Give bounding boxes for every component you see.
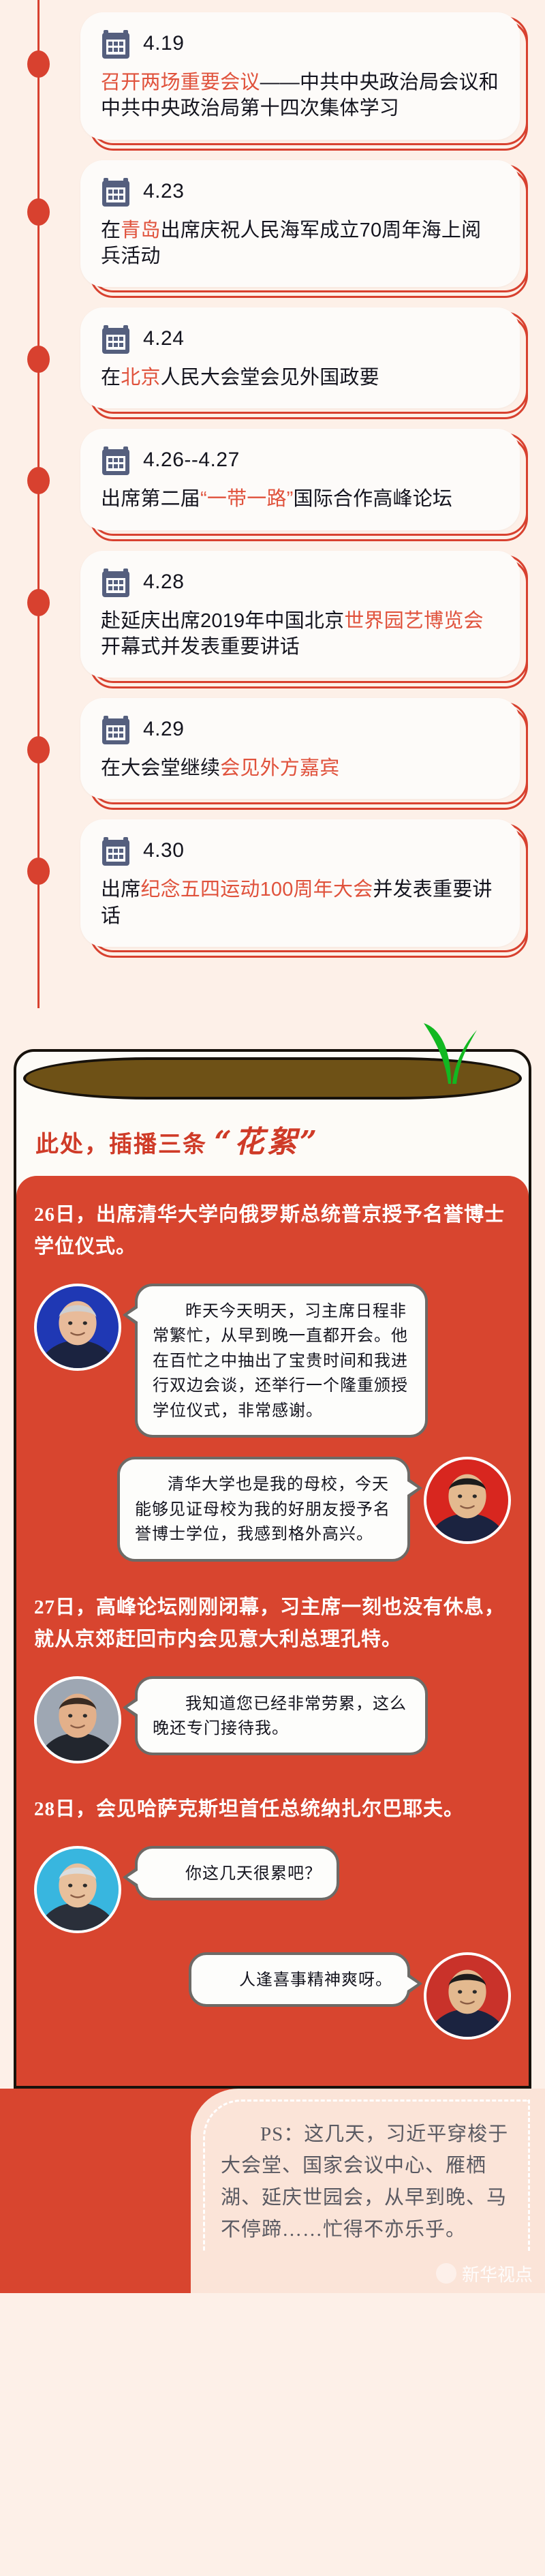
speech-bubble-text: 昨天今天明天，习主席日程非常繁忙，从早到晚一直都开会。他在百忙之中抽出了宝贵时间… — [153, 1299, 410, 1423]
dialogue-row: 昨天今天明天，习主席日程非常繁忙，从早到晚一直都开会。他在百忙之中抽出了宝贵时间… — [34, 1284, 511, 1438]
timeline-card-stack: 4.28赴延庆出席2019年中国北京世界园艺博览会开幕式并发表重要讲话 — [80, 551, 520, 678]
timeline-item: 4.23在青岛出席庆祝人民海军成立70周年海上阅兵活动 — [0, 160, 545, 288]
timeline-card-text: 在北京人民大会堂会见外国政要 — [101, 365, 499, 391]
dialogue-row: 人逢喜事精神爽呀。 — [34, 1952, 511, 2040]
timeline-card-date: 4.29 — [143, 718, 184, 741]
timeline-dot — [27, 198, 50, 226]
watermark-label: 新华视点 — [462, 2261, 533, 2286]
timeline-card-text: 在青岛出席庆祝人民海军成立70周年海上阅兵活动 — [101, 217, 499, 270]
timeline-card-date: 4.26--4.27 — [143, 449, 240, 472]
timeline-card-text: 出席纪念五四运动100周年大会并发表重要讲话 — [101, 877, 499, 929]
timeline-text-plain: 国际合作高峰论坛 — [294, 488, 453, 510]
timeline-card[interactable]: 4.23在青岛出席庆祝人民海军成立70周年海上阅兵活动 — [80, 160, 520, 288]
timeline-card-text: 赴延庆出席2019年中国北京世界园艺博览会开幕式并发表重要讲话 — [101, 608, 499, 661]
feature-blocks: 26日，出席清华大学向俄罗斯总统普京授予名誉博士学位仪式。昨天今天明天，习主席日… — [34, 1199, 511, 2040]
timeline-text-highlight: 北京 — [121, 367, 160, 389]
feature-title-quoted: “花絮” — [215, 1125, 320, 1160]
dialogue-row: 清华大学也是我的母校，今天能够见证母校为我的好朋友授予名誉博士学位，我感到格外高… — [34, 1457, 511, 1561]
dialogue-row: 我知道您已经非常劳累，这么晚还专门接待我。 — [34, 1676, 511, 1763]
speech-bubble-text: 清华大学也是我的母校，今天能够见证母校为我的好朋友授予名誉博士学位，我感到格外高… — [135, 1472, 392, 1546]
timeline-item: 4.26--4.27出席第二届“一带一路”国际合作高峰论坛 — [0, 429, 545, 530]
timeline-card-stack: 4.29在大会堂继续会见外方嘉宾 — [80, 698, 520, 799]
timeline-card-stack: 4.19召开两场重要会议——中共中央政治局会议和中共中央政治局第十四次集体学习 — [80, 12, 520, 140]
ps-text: PS：这几天，习近平穿梭于大会堂、国家会议中心、雁栖湖、延庆世园会，从早到晚、马… — [221, 2119, 520, 2247]
sprout-icon — [421, 1019, 480, 1088]
timeline-text-plain: 人民大会堂会见外国政要 — [161, 367, 379, 389]
timeline-card-header: 4.19 — [101, 27, 499, 60]
calendar-icon — [101, 444, 131, 476]
feature-title: 此处，插播三条 “花絮” — [16, 1100, 529, 1176]
timeline-card-stack: 4.26--4.27出席第二届“一带一路”国际合作高峰论坛 — [80, 429, 520, 530]
ps-footer-section: PS：这几天，习近平穿梭于大会堂、国家会议中心、雁栖湖、延庆世园会，从早到晚、马… — [0, 2089, 545, 2293]
timeline-text-highlight: 会见外方嘉宾 — [220, 757, 339, 779]
calendar-icon — [101, 834, 131, 867]
speech-bubble-text: 你这几天很累吧？ — [153, 1861, 322, 1885]
timeline-text-highlight: 召开两场重要会议 — [101, 72, 260, 93]
calendar-icon — [101, 175, 131, 208]
timeline-card-header: 4.28 — [101, 566, 499, 598]
speech-bubble-text: 我知道您已经非常劳累，这么晚还专门接待我。 — [153, 1691, 410, 1741]
timeline-text-plain: 开幕式并发表重要讲话 — [101, 636, 300, 658]
speech-bubble: 昨天今天明天，习主席日程非常繁忙，从早到晚一直都开会。他在百忙之中抽出了宝贵时间… — [135, 1284, 428, 1438]
feature-lede: 27日，高峰论坛刚刚闭幕，习主席一刻也没有休息，就从京郊赶回市内会见意大利总理孔… — [34, 1592, 511, 1656]
timeline-section: 4.19召开两场重要会议——中共中央政治局会议和中共中央政治局第十四次集体学习4… — [0, 0, 545, 1049]
timeline-dot — [27, 589, 50, 616]
timeline-card-header: 4.24 — [101, 322, 499, 355]
timeline-text-highlight: 世界园艺博览会 — [344, 610, 483, 632]
timeline-card-date: 4.28 — [143, 571, 184, 594]
timeline-list: 4.19召开两场重要会议——中共中央政治局会议和中共中央政治局第十四次集体学习4… — [0, 12, 545, 947]
timeline-card-date: 4.19 — [143, 32, 184, 55]
timeline-card-date: 4.23 — [143, 180, 184, 203]
speech-bubble: 清华大学也是我的母校，今天能够见证母校为我的好朋友授予名誉博士学位，我感到格外高… — [117, 1457, 410, 1561]
speech-bubble: 我知道您已经非常劳累，这么晚还专门接待我。 — [135, 1676, 428, 1756]
timeline-card-header: 4.29 — [101, 713, 499, 746]
timeline-text-highlight: 青岛 — [121, 219, 160, 241]
timeline-card[interactable]: 4.28赴延庆出席2019年中国北京世界园艺博览会开幕式并发表重要讲话 — [80, 551, 520, 678]
dialogue-row: 你这几天很累吧？ — [34, 1846, 511, 1933]
avatar-putin — [34, 1284, 121, 1371]
speech-bubble-text: 人逢喜事精神爽呀。 — [206, 1967, 392, 1992]
timeline-dot — [27, 858, 50, 885]
timeline-text-plain: 在 — [101, 367, 121, 389]
calendar-icon — [101, 566, 131, 598]
timeline-card[interactable]: 4.26--4.27出席第二届“一带一路”国际合作高峰论坛 — [80, 429, 520, 530]
timeline-card-date: 4.24 — [143, 327, 184, 350]
timeline-text-plain: 出席第二届 — [101, 488, 200, 510]
timeline-card[interactable]: 4.30出席纪念五四运动100周年大会并发表重要讲话 — [80, 819, 520, 947]
timeline-text-plain: 在大会堂继续 — [101, 757, 220, 779]
timeline-card-stack: 4.23在青岛出席庆祝人民海军成立70周年海上阅兵活动 — [80, 160, 520, 288]
infographic-page: 4.19召开两场重要会议——中共中央政治局会议和中共中央政治局第十四次集体学习4… — [0, 0, 545, 2576]
timeline-dot — [27, 346, 50, 373]
timeline-text-plain: 出席 — [101, 879, 140, 900]
calendar-icon — [101, 322, 131, 355]
timeline-item: 4.19召开两场重要会议——中共中央政治局会议和中共中央政治局第十四次集体学习 — [0, 12, 545, 140]
timeline-dot — [27, 736, 50, 763]
timeline-dot — [27, 50, 50, 78]
speech-bubble: 你这几天很累吧？ — [135, 1846, 339, 1900]
feature-red-panel: 26日，出席清华大学向俄罗斯总统普京授予名誉博士学位仪式。昨天今天明天，习主席日… — [16, 1176, 529, 2086]
timeline-card-header: 4.23 — [101, 175, 499, 208]
timeline-card[interactable]: 4.24在北京人民大会堂会见外国政要 — [80, 307, 520, 408]
avatar-xi-cn-flag — [424, 1457, 511, 1544]
avatar-xi-flags — [424, 1952, 511, 2040]
timeline-text-plain: 赴延庆出席2019年中国北京 — [101, 610, 344, 632]
feature-section: 此处，插播三条 “花絮” 26日，出席清华大学向俄罗斯总统普京授予名誉博士学位仪… — [14, 1049, 531, 2089]
timeline-card[interactable]: 4.29在大会堂继续会见外方嘉宾 — [80, 698, 520, 799]
feature-title-prefix: 此处，插播三条 — [35, 1132, 207, 1157]
calendar-icon — [101, 27, 131, 60]
timeline-text-highlight: 纪念五四运动100周年大会 — [140, 879, 373, 900]
timeline-card-text: 出席第二届“一带一路”国际合作高峰论坛 — [101, 486, 499, 512]
timeline-card-stack: 4.24在北京人民大会堂会见外国政要 — [80, 307, 520, 408]
avatar-conte — [34, 1676, 121, 1763]
timeline-card-text: 在大会堂继续会见外方嘉宾 — [101, 755, 499, 781]
timeline-text-highlight: “一带一路” — [200, 488, 294, 510]
watermark: 新华视点 — [436, 2261, 533, 2286]
timeline-item: 4.24在北京人民大会堂会见外国政要 — [0, 307, 545, 408]
timeline-card-header: 4.30 — [101, 834, 499, 867]
calendar-icon — [101, 713, 131, 746]
feature-lede: 28日，会见哈萨克斯坦首任总统纳扎尔巴耶夫。 — [34, 1793, 511, 1825]
weibo-icon — [436, 2263, 456, 2284]
timeline-item: 4.29在大会堂继续会见外方嘉宾 — [0, 698, 545, 799]
timeline-dot — [27, 467, 50, 494]
timeline-card-stack: 4.30出席纪念五四运动100周年大会并发表重要讲话 — [80, 819, 520, 947]
avatar-nazarbayev — [34, 1846, 121, 1933]
timeline-text-plain: 在 — [101, 219, 121, 241]
feature-lede: 26日，出席清华大学向俄罗斯总统普京授予名誉博士学位仪式。 — [34, 1199, 511, 1263]
timeline-item: 4.30出席纪念五四运动100周年大会并发表重要讲话 — [0, 819, 545, 947]
speech-bubble: 人逢喜事精神爽呀。 — [189, 1952, 410, 2007]
timeline-card-header: 4.26--4.27 — [101, 444, 499, 476]
timeline-item: 4.28赴延庆出席2019年中国北京世界园艺博览会开幕式并发表重要讲话 — [0, 551, 545, 678]
timeline-card-text: 召开两场重要会议——中共中央政治局会议和中共中央政治局第十四次集体学习 — [101, 70, 499, 122]
timeline-card[interactable]: 4.19召开两场重要会议——中共中央政治局会议和中共中央政治局第十四次集体学习 — [80, 12, 520, 140]
timeline-card-date: 4.30 — [143, 839, 184, 862]
